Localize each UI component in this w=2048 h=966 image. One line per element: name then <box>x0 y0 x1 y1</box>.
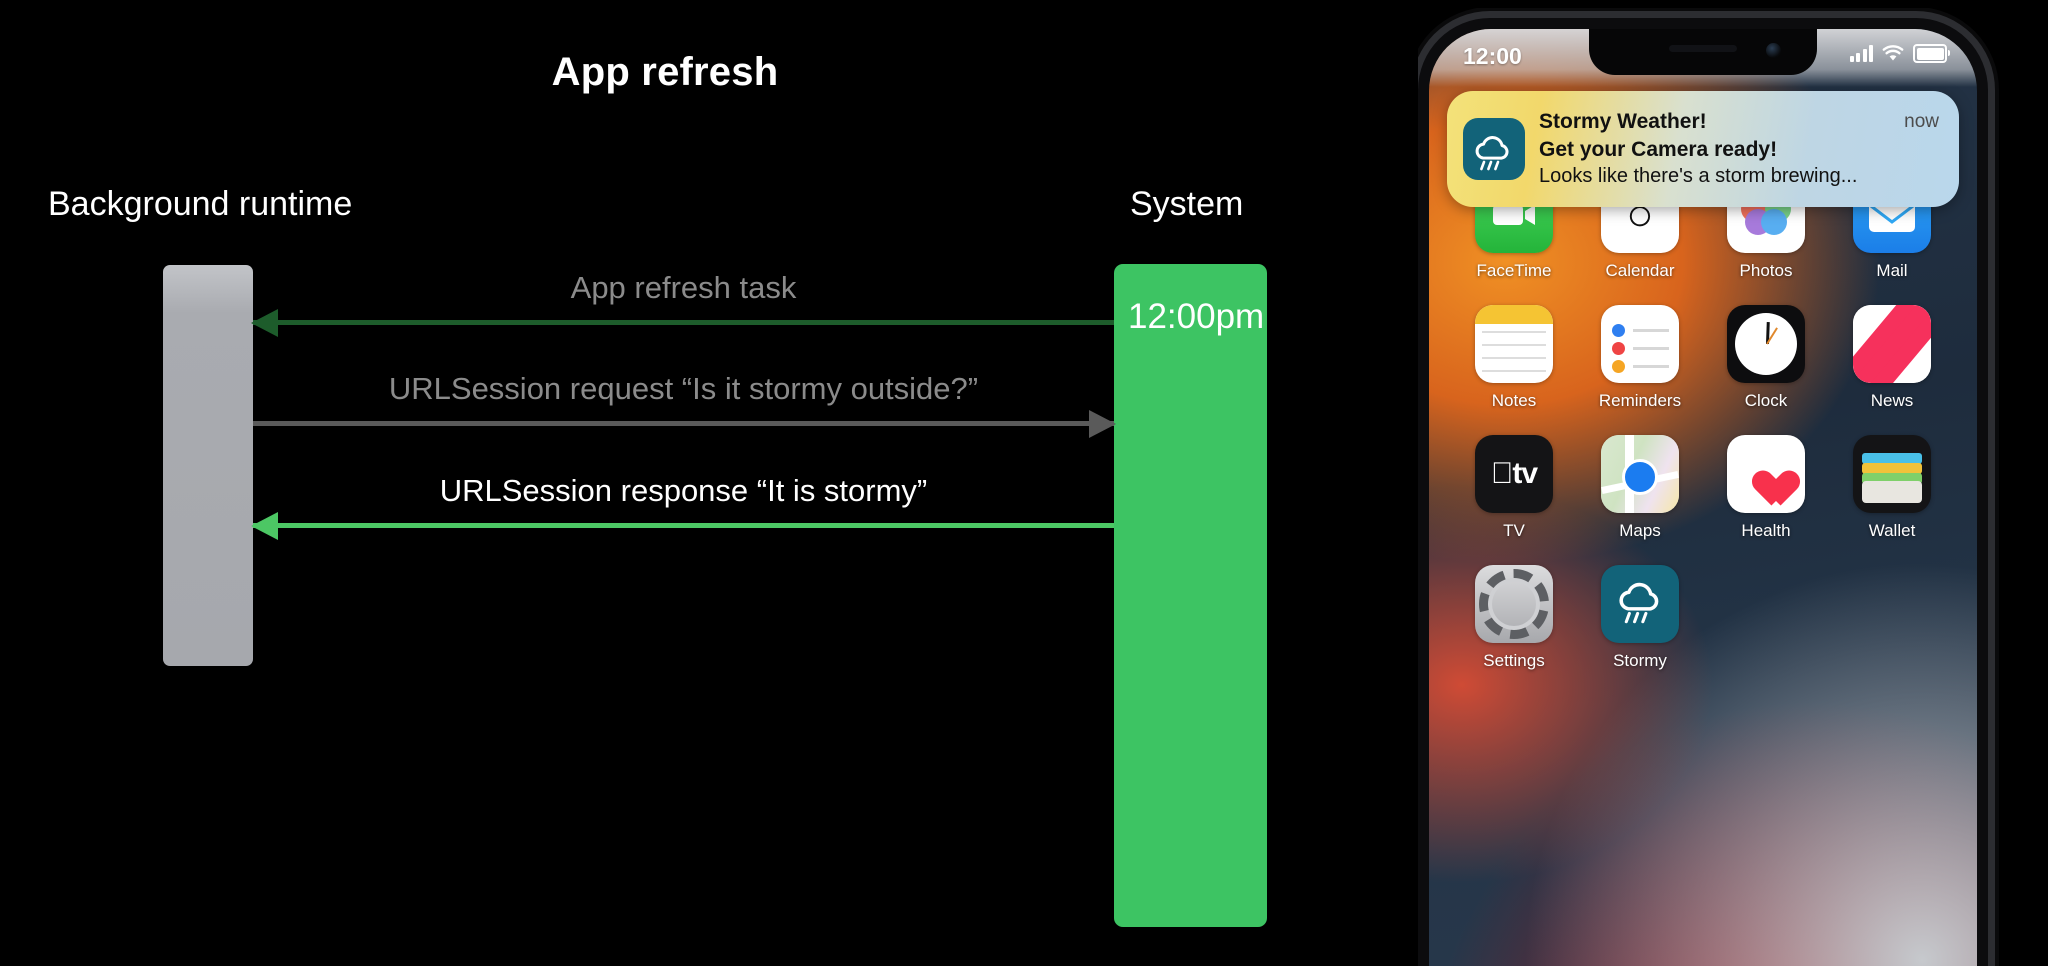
app-icon-clock[interactable]: Clock <box>1703 305 1829 411</box>
app-icon-news[interactable]: News <box>1829 305 1955 411</box>
stormy-icon <box>1601 565 1679 643</box>
news-icon <box>1853 305 1931 383</box>
clock-icon <box>1727 305 1805 383</box>
app-label: Reminders <box>1599 391 1681 411</box>
app-label: FaceTime <box>1477 261 1552 281</box>
arrow-head-left-icon <box>251 512 278 540</box>
app-icon-maps[interactable]: Maps <box>1577 435 1703 541</box>
lane-label-background-runtime: Background runtime <box>48 185 352 224</box>
stormy-weather-icon <box>1463 118 1525 180</box>
arrow-line <box>253 421 1114 426</box>
notification-text: Stormy Weather! Get your Camera ready! L… <box>1539 108 1867 190</box>
app-icon-stormy[interactable]: Stormy <box>1577 565 1703 671</box>
wallet-icon <box>1853 435 1931 513</box>
earpiece-speaker-icon <box>1669 45 1737 52</box>
notification-banner[interactable]: Stormy Weather! Get your Camera ready! L… <box>1447 91 1959 207</box>
settings-icon <box>1475 565 1553 643</box>
reminders-icon <box>1601 305 1679 383</box>
app-label: News <box>1871 391 1914 411</box>
arrow-head-right-icon <box>1089 410 1116 438</box>
app-label: Stormy <box>1613 651 1667 671</box>
notification-body: Looks like there's a storm brewing... <box>1539 163 1867 190</box>
message-label: URLSession response “It is stormy” <box>253 473 1114 509</box>
app-label: Calendar <box>1606 261 1675 281</box>
system-time-label: 12:00pm <box>1128 297 1264 337</box>
notch <box>1589 29 1817 75</box>
app-icon-wallet[interactable]: Wallet <box>1829 435 1955 541</box>
system-block: 12:00pm <box>1114 264 1267 927</box>
app-label: TV <box>1503 521 1525 541</box>
cellular-bars-icon <box>1850 45 1874 62</box>
app-label: Settings <box>1483 651 1544 671</box>
front-camera-icon <box>1766 43 1781 58</box>
message-label: App refresh task <box>253 270 1114 306</box>
tv-glyph: tv <box>1491 457 1537 491</box>
cloud-glyph <box>1471 134 1517 164</box>
app-label: Health <box>1741 521 1790 541</box>
arrow-line <box>253 320 1114 325</box>
app-label: Maps <box>1619 521 1661 541</box>
message-label: URLSession request “Is it stormy outside… <box>253 371 1114 407</box>
health-icon <box>1727 435 1805 513</box>
iphone-mockup: 12:00 <box>1418 8 2048 966</box>
app-label: Mail <box>1876 261 1907 281</box>
app-label: Notes <box>1492 391 1536 411</box>
slide-canvas: App refresh Background runtime System 12… <box>0 0 2048 966</box>
home-screen-app-grid: FaceTime ○ Calendar <box>1429 175 1977 671</box>
heart-glyph <box>1746 456 1786 492</box>
notification-title: Stormy Weather! <box>1539 108 1867 136</box>
app-label: Clock <box>1745 391 1788 411</box>
wifi-icon <box>1882 45 1904 62</box>
app-label: Wallet <box>1869 521 1916 541</box>
app-icon-settings[interactable]: Settings <box>1451 565 1577 671</box>
notification-subtitle: Get your Camera ready! <box>1539 136 1867 164</box>
app-label: Photos <box>1740 261 1793 281</box>
maps-icon <box>1601 435 1679 513</box>
phone-frame: 12:00 <box>1418 18 1988 966</box>
app-icon-tv[interactable]: tv TV <box>1451 435 1577 541</box>
app-icon-reminders[interactable]: Reminders <box>1577 305 1703 411</box>
status-indicators <box>1850 44 1948 63</box>
battery-icon <box>1913 44 1947 63</box>
background-runtime-block <box>163 265 253 666</box>
lane-label-system: System <box>1130 185 1243 224</box>
phone-screen: 12:00 <box>1429 29 1977 966</box>
app-icon-health[interactable]: Health <box>1703 435 1829 541</box>
arrow-head-left-icon <box>251 309 278 337</box>
status-time: 12:00 <box>1463 43 1522 70</box>
arrow-line <box>253 523 1114 528</box>
sequence-diagram: App refresh Background runtime System 12… <box>0 0 1420 966</box>
tv-icon: tv <box>1475 435 1553 513</box>
notes-icon <box>1475 305 1553 383</box>
app-icon-notes[interactable]: Notes <box>1451 305 1577 411</box>
notification-time: now <box>1904 111 1939 133</box>
page-title: App refresh <box>0 50 1330 95</box>
gear-glyph <box>1479 569 1549 639</box>
